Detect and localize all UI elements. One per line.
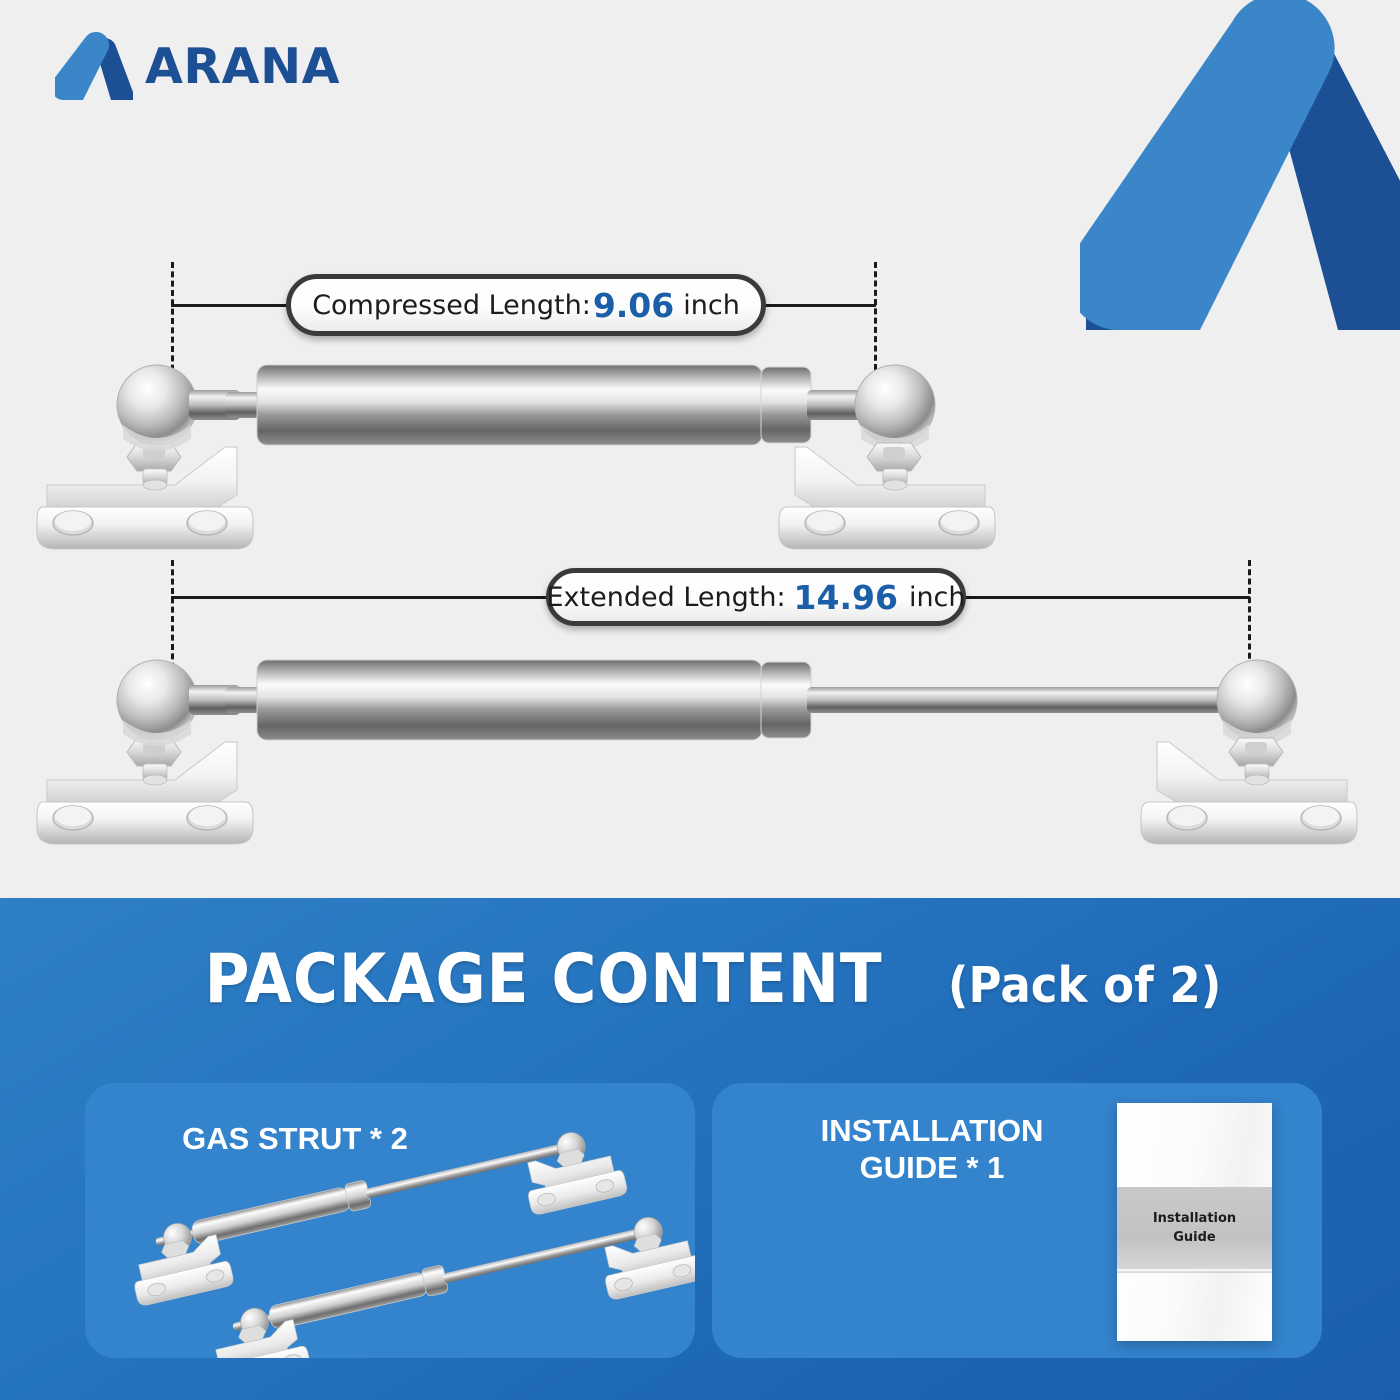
installation-guide-booklet-icon: Installation Guide [1117, 1103, 1272, 1341]
extended-length-label: Extended Length: [547, 582, 786, 613]
product-diagram-section: ARANA Compressed Length:9.06inch [0, 0, 1400, 898]
gas-strut-pair-icon [100, 1093, 695, 1358]
package-title: PACKAGE CONTENT [204, 940, 882, 1019]
installation-guide-label-line2: GUIDE * 1 [762, 1150, 1102, 1187]
product-infographic: ARANA Compressed Length:9.06inch [0, 0, 1400, 1400]
booklet-title-band: Installation Guide [1117, 1187, 1272, 1269]
compressed-length-label: Compressed Length: [312, 290, 591, 321]
dimension-line-left [171, 304, 296, 307]
compressed-length-unit: inch [676, 290, 740, 321]
booklet-title-line1: Installation [1153, 1209, 1236, 1229]
brand-logo: ARANA [55, 30, 340, 102]
arana-chevron-logo-icon [55, 30, 135, 102]
arana-chevron-watermark-icon [1080, 0, 1400, 330]
installation-guide-label-line1: INSTALLATION [762, 1113, 1102, 1150]
dimension-line-left-extended [171, 596, 556, 599]
package-card-gas-strut: GAS STRUT * 2 [85, 1083, 695, 1358]
dimension-line-right-extended [956, 596, 1250, 599]
gas-strut-extended-icon [25, 630, 1385, 855]
gas-strut-compressed-icon [25, 335, 1035, 560]
compressed-length-value: 9.06 [591, 286, 676, 325]
booklet-fold-line [1117, 1269, 1272, 1273]
package-content-heading: PACKAGE CONTENT(Pack of 2) [0, 940, 1400, 1019]
extended-length-callout: Extended Length:14.96inch [546, 568, 966, 626]
dimension-line-right [758, 304, 876, 307]
package-card-installation-guide: INSTALLATION GUIDE * 1 Installation Guid… [712, 1083, 1322, 1358]
brand-name: ARANA [145, 42, 340, 91]
extended-length-value: 14.96 [786, 578, 900, 617]
installation-guide-card-label: INSTALLATION GUIDE * 1 [762, 1113, 1102, 1186]
package-subtitle: (Pack of 2) [948, 957, 1221, 1014]
extended-length-unit: inch [900, 582, 966, 613]
booklet-title-line2: Guide [1173, 1228, 1216, 1248]
compressed-length-callout: Compressed Length:9.06inch [286, 274, 766, 336]
